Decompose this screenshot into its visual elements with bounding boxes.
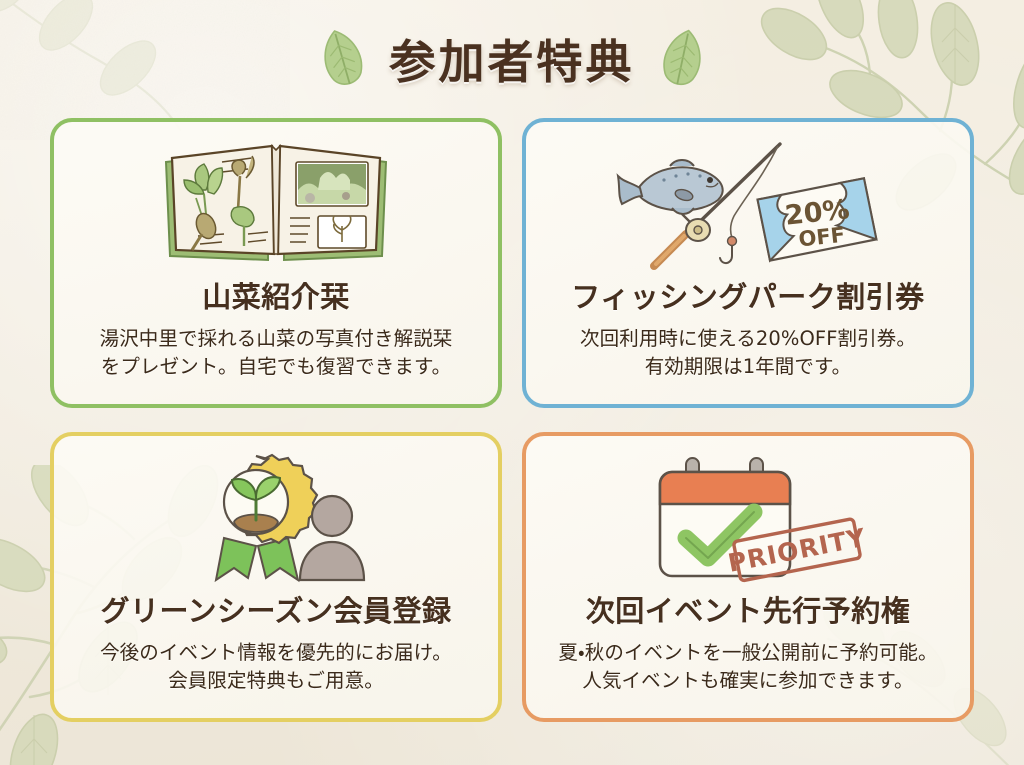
desc-line: 夏・秋のイベントを一般公開前に予約可能。 xyxy=(558,639,937,667)
desc-line: 今後のイベント情報を優先的にお届け。 xyxy=(100,639,452,667)
leaf-icon xyxy=(314,25,370,93)
card-description: 次回利用時に使える20%OFF割引券。 有効期限は1年間です。 xyxy=(580,325,916,380)
benefit-card-fishing-park-coupon[interactable]: 20% OFF フィッシングパーク割引券 次回利用時に使える20%OFF割引券。… xyxy=(522,118,974,408)
benefit-card-green-season-membership[interactable]: グリーンシーズン会員登録 今後のイベント情報を優先的にお届け。 会員限定特典もご… xyxy=(50,432,502,722)
card-title: グリーンシーズン会員登録 xyxy=(100,588,451,630)
card-title: フィッシングパーク割引券 xyxy=(571,274,924,316)
leaf-icon xyxy=(655,25,711,93)
card-title: 山菜紹介栞 xyxy=(202,274,350,316)
ticket-off-label: OFF xyxy=(797,223,846,252)
page-background: 参加者特典 xyxy=(0,0,1024,765)
desc-line: をプレゼント。自宅でも復習できます。 xyxy=(100,353,453,381)
desc-line: 会員限定特典もご用意。 xyxy=(100,667,452,695)
benefit-card-priority-reservation[interactable]: PRIORITY 次回イベント先行予約権 夏・秋のイベントを一般公開前に予約可能… xyxy=(522,432,974,722)
header: 参加者特典 xyxy=(0,18,1024,100)
sprout-badge-person-icon xyxy=(176,452,376,584)
calendar-check-priority-icon: PRIORITY xyxy=(630,452,866,584)
benefits-card-grid: 山菜紹介栞 湯沢中里で採れる山菜の写真付き解説栞 をプレゼント。自宅でも復習でき… xyxy=(50,118,974,722)
desc-line: 人気イベントも確実に参加できます。 xyxy=(558,667,937,695)
desc-line: 有効期限は1年間です。 xyxy=(580,353,916,381)
desc-line: 次回利用時に使える20%OFF割引券。 xyxy=(580,325,916,353)
open-book-icon xyxy=(160,138,392,270)
page-title: 参加者特典 xyxy=(390,26,635,92)
card-description: 今後のイベント情報を優先的にお届け。 会員限定特典もご用意。 xyxy=(100,639,452,694)
card-description: 湯沢中里で採れる山菜の写真付き解説栞 をプレゼント。自宅でも復習できます。 xyxy=(100,325,453,380)
fishing-rod-ticket-icon: 20% OFF xyxy=(612,138,884,270)
card-description: 夏・秋のイベントを一般公開前に予約可能。 人気イベントも確実に参加できます。 xyxy=(558,639,937,694)
benefit-card-sansai-guidebook[interactable]: 山菜紹介栞 湯沢中里で採れる山菜の写真付き解説栞 をプレゼント。自宅でも復習でき… xyxy=(50,118,502,408)
card-title: 次回イベント先行予約権 xyxy=(586,588,911,630)
desc-line: 湯沢中里で採れる山菜の写真付き解説栞 xyxy=(100,325,453,353)
